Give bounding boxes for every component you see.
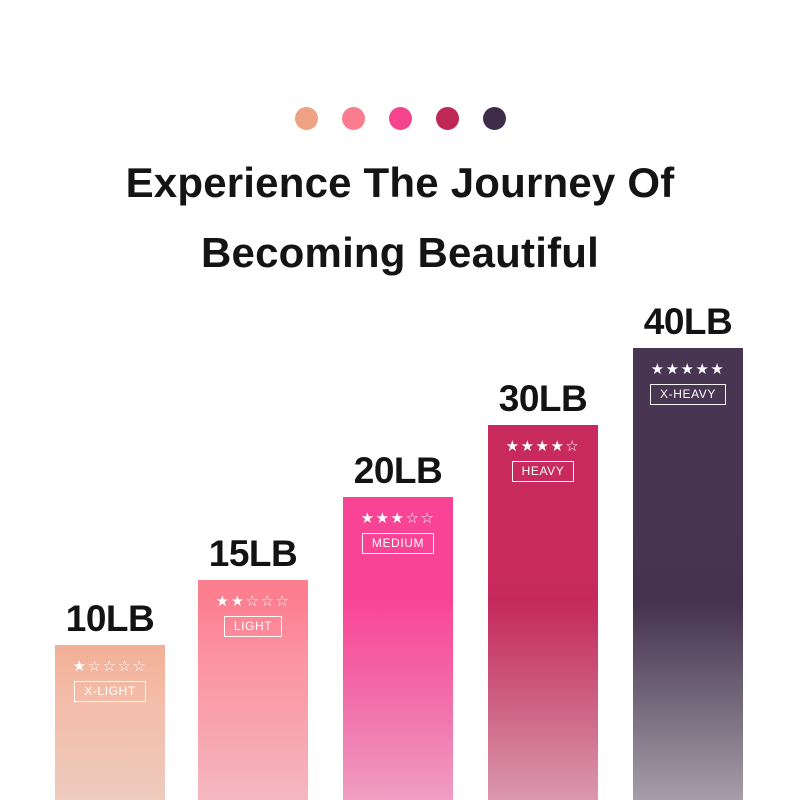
bar-value-label: 20LB [343,452,453,497]
bar-badge: ★☆☆☆☆X-LIGHT [55,659,165,702]
star-rating-icon: ★★★☆☆ [361,511,436,526]
bar-group-heavy[interactable]: 30LB★★★★☆HEAVY [488,425,598,800]
bar-value-label: 15LB [198,535,308,580]
resistance-level-label: X-LIGHT [74,681,146,702]
promo-banner: Experience The Journey Of Becoming Beaut… [0,0,800,800]
bar-value-label: 40LB [633,303,743,348]
resistance-level-label: LIGHT [224,616,282,637]
star-rating-icon: ★★★★☆ [506,439,581,454]
bar-column: ★★★★★X-HEAVY [633,348,743,800]
bar-badge: ★★★★☆HEAVY [488,439,598,482]
resistance-level-label: X-HEAVY [650,384,726,405]
resistance-level-label: HEAVY [512,461,575,482]
bar-column: ★☆☆☆☆X-LIGHT [55,645,165,800]
bar-badge: ★★☆☆☆LIGHT [198,594,308,637]
bar-group-x-light[interactable]: 10LB★☆☆☆☆X-LIGHT [55,645,165,800]
bar-bottom-fade [633,600,743,800]
star-rating-icon: ★★☆☆☆ [216,594,291,609]
bar-column: ★★☆☆☆LIGHT [198,580,308,800]
bar-group-light[interactable]: 15LB★★☆☆☆LIGHT [198,580,308,800]
resistance-bar-chart: 10LB★☆☆☆☆X-LIGHT15LB★★☆☆☆LIGHT20LB★★★☆☆M… [0,0,800,800]
bar-badge: ★★★☆☆MEDIUM [343,511,453,554]
bar-group-medium[interactable]: 20LB★★★☆☆MEDIUM [343,497,453,800]
bar-bottom-fade [343,600,453,800]
bar-column: ★★★★☆HEAVY [488,425,598,800]
resistance-level-label: MEDIUM [362,533,434,554]
bar-column: ★★★☆☆MEDIUM [343,497,453,800]
bar-value-label: 30LB [488,380,598,425]
bar-bottom-fade [488,600,598,800]
star-rating-icon: ★☆☆☆☆ [73,659,148,674]
bar-badge: ★★★★★X-HEAVY [633,362,743,405]
bar-value-label: 10LB [55,600,165,645]
star-rating-icon: ★★★★★ [651,362,726,377]
bar-group-x-heavy[interactable]: 40LB★★★★★X-HEAVY [633,348,743,800]
